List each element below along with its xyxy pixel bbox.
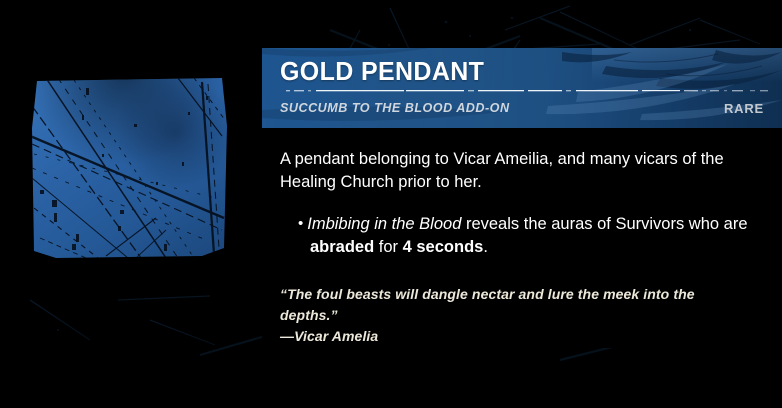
flavor-author: —Vicar Amelia [280,326,750,347]
item-body: A pendant belonging to Vicar Ameilia, an… [262,128,782,348]
item-effect-entry: •Imbibing in the Blood reveals the auras… [280,212,750,259]
item-header-banner: GOLD PENDANT [262,48,782,128]
item-effect-text: Imbibing in the Blood reveals the auras … [307,215,747,256]
item-icon-container[interactable] [16,58,250,282]
bullet-icon: • [298,215,307,232]
item-flavor-text: “The foul beasts will dangle nectar and … [280,284,750,347]
flavor-quote: “The foul beasts will dangle nectar and … [280,286,695,323]
item-effects-list: •Imbibing in the Blood reveals the auras… [280,212,750,259]
item-subtitle: SUCCUMB TO THE BLOOD ADD-ON [280,100,510,115]
gold-pendant-item-icon[interactable] [16,58,250,282]
item-title: GOLD PENDANT [280,56,484,87]
item-tooltip-screen: GOLD PENDANT [0,0,782,408]
item-tooltip-card: GOLD PENDANT [262,48,782,348]
item-description: A pendant belonging to Vicar Ameilia, an… [280,148,750,194]
header-divider-line [280,90,772,92]
item-rarity-label: RARE [724,101,764,116]
